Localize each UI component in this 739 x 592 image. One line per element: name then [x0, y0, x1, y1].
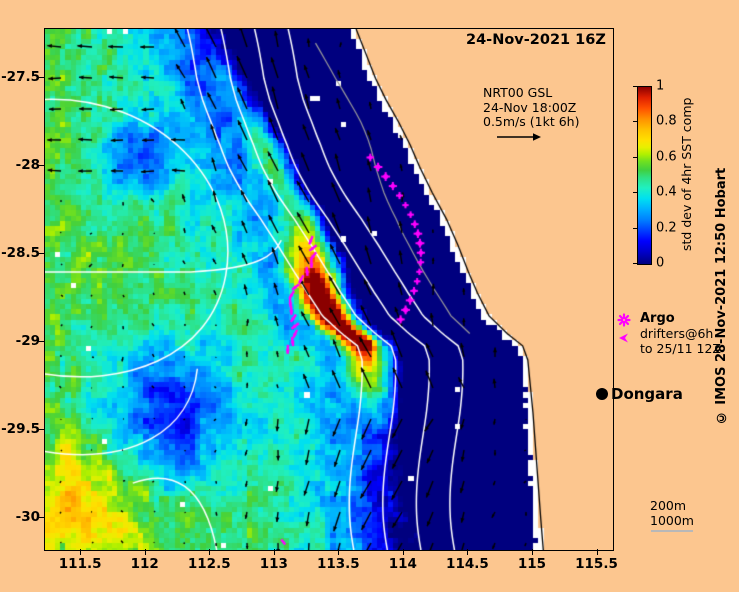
x-tick-label: 115 [518, 556, 546, 572]
colorbar-title: std dev of 4hr SST comp [679, 86, 694, 263]
x-tick-label: 112 [131, 556, 159, 572]
x-tick-label: 113 [260, 556, 288, 572]
depth-contour-key: 200m 1000m [650, 498, 694, 528]
x-tick-label: 111.5 [59, 556, 102, 572]
colorbar-tick [633, 121, 637, 122]
drifter-arrow-icon [617, 332, 631, 344]
argo-float-icon [617, 313, 631, 327]
x-tick [274, 549, 275, 555]
legend-argo-label: Argo [640, 311, 675, 326]
x-tick [467, 549, 468, 555]
depth-label-1000m: 1000m [650, 513, 694, 528]
x-tick-label: 114 [389, 556, 417, 572]
y-tick-label: -28.5 [1, 245, 40, 261]
colorbar-tick-label: 0 [656, 256, 664, 271]
x-tick [80, 549, 81, 555]
x-tick [145, 549, 146, 555]
y-tick-label: -30 [16, 509, 40, 525]
credit-text: © IMOS 28-Nov-2021 12:50 Hobart [714, 168, 729, 425]
y-tick-label: -29 [16, 333, 40, 349]
x-tick [532, 549, 533, 555]
x-tick [338, 549, 339, 555]
colorbar-tick [633, 86, 637, 87]
model-annotation: NRT00 GSL 24-Nov 18:00Z 0.5m/s (1kt 6h) [483, 86, 579, 130]
annotation-line-1: NRT00 GSL [483, 86, 579, 101]
colorbar-tick-label: 0.6 [656, 149, 677, 164]
dongara-label: Dongara [611, 385, 683, 403]
colorbar-tick-label: 0.4 [656, 185, 677, 200]
legend-drifter-label: drifters@6h to 25/11 12Z [640, 326, 721, 356]
dongara-marker-icon [596, 388, 608, 400]
colorbar-tick [633, 157, 637, 158]
date-stamp: 24-Nov-2021 16Z [466, 32, 606, 48]
colorbar-tick-label: 0.2 [656, 220, 677, 235]
colorbar-tick [633, 192, 637, 193]
y-tick-label: -28 [16, 157, 40, 173]
x-tick-label: 115.5 [575, 556, 618, 572]
x-tick [597, 549, 598, 555]
annotation-line-2: 24-Nov 18:00Z [483, 101, 579, 116]
y-tick-label: -29.5 [1, 421, 40, 437]
colorbar-tick [633, 263, 637, 264]
annotation-line-3: 0.5m/s (1kt 6h) [483, 115, 579, 130]
map-figure: 24-Nov-2021 16Z NRT00 GSL 24-Nov 18:00Z … [0, 0, 739, 592]
vector-scale-arrow-icon [497, 131, 543, 143]
colorbar-gradient [637, 86, 652, 265]
x-tick [209, 549, 210, 555]
x-tick-label: 113.5 [317, 556, 360, 572]
depth-label-200m: 200m [650, 498, 694, 513]
x-tick [403, 549, 404, 555]
x-tick-label: 112.5 [188, 556, 231, 572]
colorbar-tick-label: 1 [656, 79, 664, 94]
legend-drifter-line-2: to 25/11 12Z [640, 341, 721, 356]
y-tick-label: -27.5 [1, 69, 40, 85]
x-tick-label: 114.5 [446, 556, 489, 572]
colorbar-tick-label: 0.8 [656, 114, 677, 129]
depth-scale-line [651, 530, 693, 532]
legend-drifter-line-1: drifters@6h [640, 326, 721, 341]
colorbar-tick [633, 228, 637, 229]
